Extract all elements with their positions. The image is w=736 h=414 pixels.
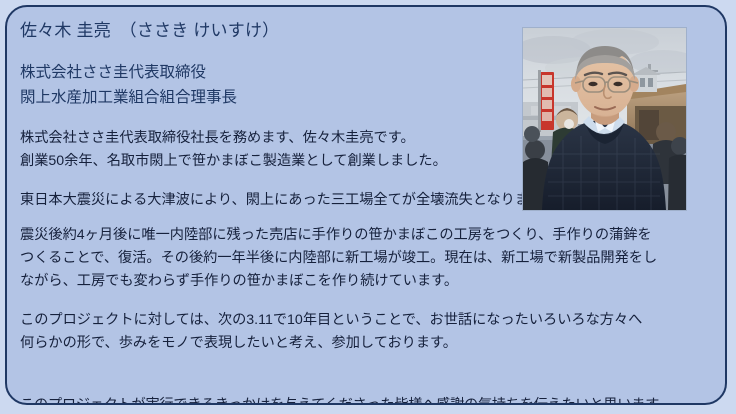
spacer [20, 293, 727, 309]
paragraph-project: このプロジェクトに対しては、次の3.11で10年目ということで、お世話になったい… [20, 309, 726, 355]
paragraph-revival: 震災後約4ヶ月後に唯一内陸部に残った売店に手作りの笹かまぼこの工房をつくり、手作… [20, 224, 726, 293]
paragraph-revival-line-2: つくることで、復活。その後約一年半後に内陸部に新工場が竣工。現在は、新工場で新製… [20, 247, 726, 270]
spacer [20, 212, 727, 224]
profile-card: 佐々木 圭亮 （ささき けいすけ） 株式会社ささ圭代表取締役 閖上水産加工業組合… [5, 5, 727, 405]
page-canvas: 佐々木 圭亮 （ささき けいすけ） 株式会社ささ圭代表取締役 閖上水産加工業組合… [0, 0, 736, 414]
paragraph-project-line-1: このプロジェクトに対しては、次の3.11で10年目ということで、お世話になったい… [20, 309, 726, 332]
paragraph-intro-line-1: 株式会社ささ圭代表取締役社長を務めます、佐々木圭亮です。 [20, 127, 520, 150]
paragraph-intro: 株式会社ささ圭代表取締役社長を務めます、佐々木圭亮です。 創業50余年、名取市閖… [20, 127, 520, 173]
paragraph-closing: このプロジェクトが実行できるきっかけを与えてくださった皆様へ感謝の気持ちを伝えた… [20, 395, 727, 405]
paragraph-project-line-2: 何らかの形で、歩みをモノで表現したいと考え、参加しております。 [20, 332, 726, 355]
paragraph-revival-line-1: 震災後約4ヶ月後に唯一内陸部に残った売店に手作りの笹かまぼこの工房をつくり、手作… [20, 224, 726, 247]
paragraph-intro-line-2: 創業50余年、名取市閖上で笹かまぼこ製造業として創業しました。 [20, 150, 520, 173]
portrait-photo [523, 28, 686, 210]
paragraph-revival-line-3: ながら、工房でも変わらず手作りの笹かまぼこを作り続けています。 [20, 270, 726, 293]
